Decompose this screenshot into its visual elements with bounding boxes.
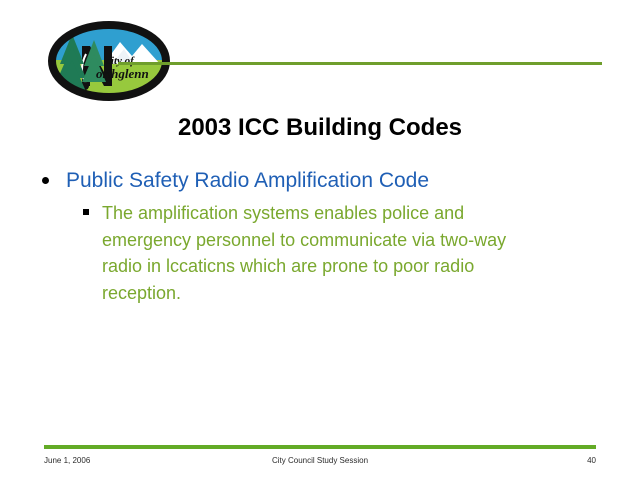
logo-text-line2: orthglenn	[96, 66, 149, 81]
slide-title: 2003 ICC Building Codes	[0, 114, 640, 142]
footer-page-number: 40	[587, 456, 596, 465]
bullet-level1: Public Safety Radio Amplification Code	[36, 168, 612, 194]
slide-footer: June 1, 2006 City Council Study Session …	[44, 456, 596, 470]
square-bullet-icon	[83, 209, 89, 215]
header-divider	[118, 62, 602, 65]
slide-body: Public Safety Radio Amplification Code T…	[36, 168, 612, 306]
round-bullet-icon	[42, 177, 49, 184]
bullet-level2: The amplification systems enables police…	[80, 200, 542, 306]
bullet-level1-text: Public Safety Radio Amplification Code	[66, 169, 429, 192]
bullet-level2-text: The amplification systems enables police…	[102, 203, 506, 303]
footer-event-title: City Council Study Session	[44, 456, 596, 465]
footer-divider	[44, 445, 596, 449]
